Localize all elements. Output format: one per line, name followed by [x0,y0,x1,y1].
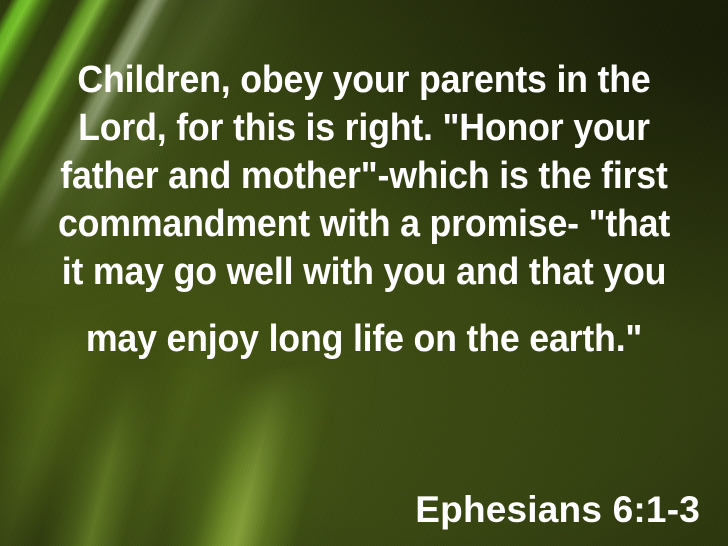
slide-content: Children, obey your parents in the Lord,… [0,0,728,546]
verse-line-2: Lord, for this is right. "Honor your [22,104,706,152]
verse-line-4: commandment with a promise- "that [22,200,706,248]
scripture-reference: Ephesians 6:1-3 [415,488,700,532]
verse-line-3: father and mother"-which is the first [22,152,706,200]
verse-text-block: Children, obey your parents in the Lord,… [0,56,728,363]
scripture-slide: Children, obey your parents in the Lord,… [0,0,728,546]
verse-line-6: may enjoy long life on the earth." [22,315,706,363]
verse-line-5: it may go well with you and that you [22,248,706,296]
verse-line-1: Children, obey your parents in the [22,56,706,104]
